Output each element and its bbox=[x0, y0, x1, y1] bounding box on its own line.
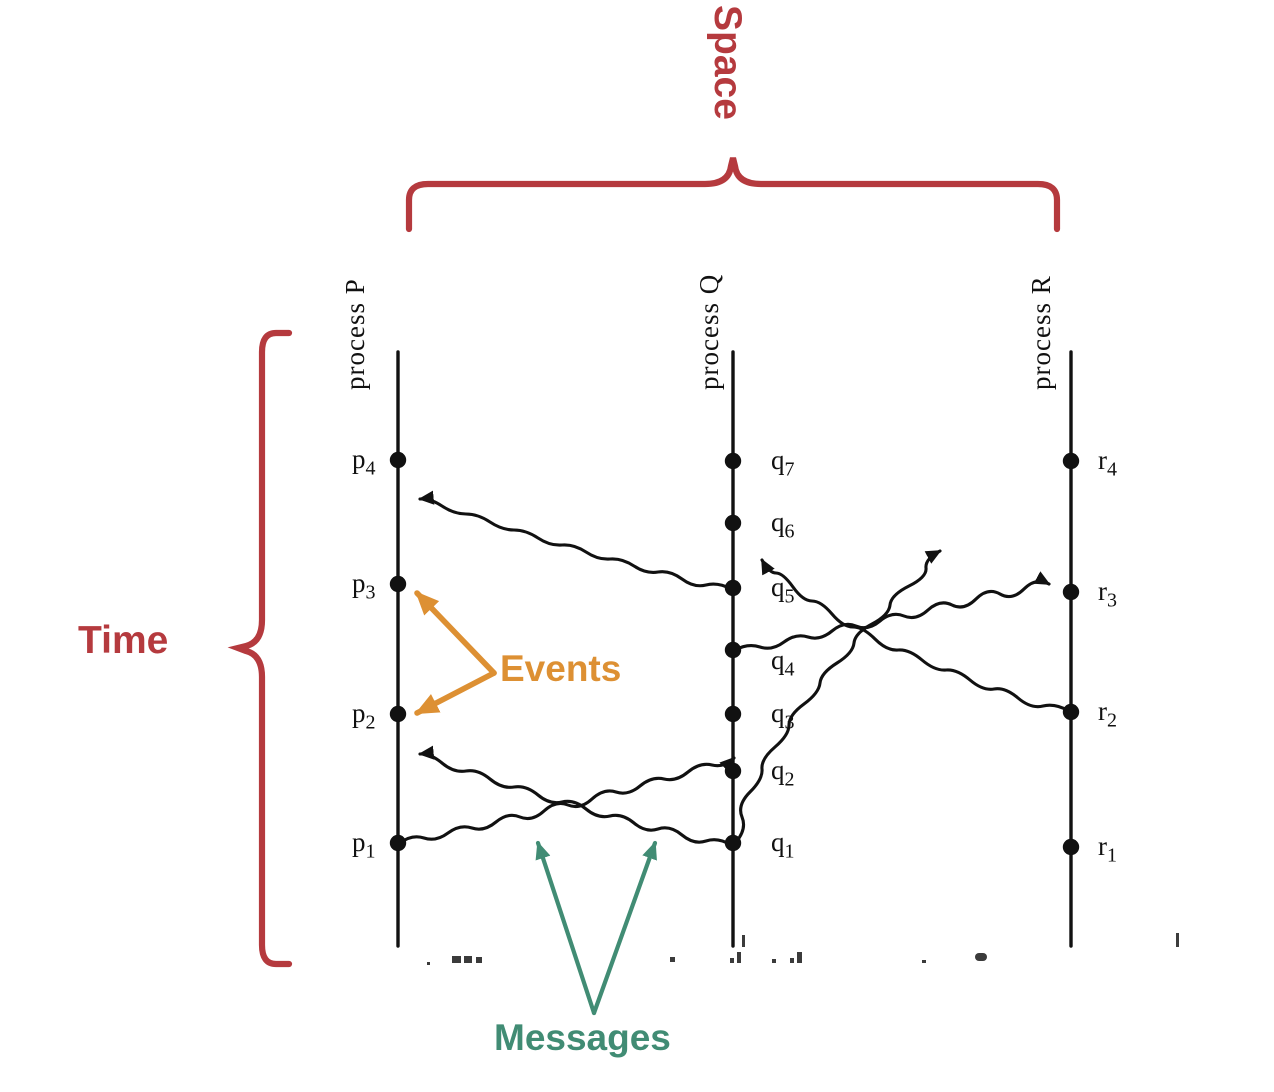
event-label-q7-sub: 7 bbox=[785, 458, 795, 480]
events-arrow-to-p3 bbox=[417, 593, 494, 673]
annotation-label-messages: Messages bbox=[494, 1017, 671, 1059]
messages-arrow-left bbox=[538, 843, 594, 1013]
event-label-q1: q1 bbox=[771, 827, 795, 863]
event-label-r1-base: r bbox=[1098, 831, 1107, 861]
event-label-p4: p4 bbox=[352, 444, 376, 480]
event-label-r4: r4 bbox=[1098, 445, 1117, 481]
event-label-r2-base: r bbox=[1098, 696, 1107, 726]
event-label-r1: r1 bbox=[1098, 831, 1117, 867]
event-label-q7: q7 bbox=[771, 445, 795, 481]
event-label-r2-sub: 2 bbox=[1107, 709, 1117, 731]
event-label-q2: q2 bbox=[771, 755, 795, 791]
event-label-p2: p2 bbox=[352, 698, 376, 734]
event-label-q4-sub: 4 bbox=[785, 658, 795, 680]
event-label-q2-sub: 2 bbox=[785, 768, 795, 790]
event-label-q7-base: q bbox=[771, 445, 785, 475]
event-label-p3-base: p bbox=[352, 568, 366, 598]
event-label-q2-base: q bbox=[771, 755, 785, 785]
event-label-r3-base: r bbox=[1098, 576, 1107, 606]
event-label-r3-sub: 3 bbox=[1107, 589, 1117, 611]
messages-arrow-right bbox=[594, 843, 655, 1013]
event-label-r2: r2 bbox=[1098, 696, 1117, 732]
event-label-q6-base: q bbox=[771, 507, 785, 537]
time-brace bbox=[238, 333, 289, 964]
process-title-Q: process Q bbox=[694, 240, 725, 390]
event-label-p1-sub: 1 bbox=[366, 840, 376, 862]
event-label-p3: p3 bbox=[352, 568, 376, 604]
event-label-q5: q5 bbox=[771, 572, 795, 608]
event-label-q5-sub: 5 bbox=[785, 585, 795, 607]
event-label-r4-sub: 4 bbox=[1107, 458, 1117, 480]
messages-arrows bbox=[538, 843, 655, 1013]
process-title-R: process R bbox=[1026, 240, 1057, 390]
events-arrows bbox=[417, 593, 494, 713]
space-brace bbox=[409, 158, 1057, 229]
figure-canvas: process P process Q process R p4 p3 p2 p… bbox=[0, 0, 1274, 1092]
event-label-p1-base: p bbox=[352, 827, 366, 857]
event-label-q3-base: q bbox=[771, 698, 785, 728]
event-label-q1-base: q bbox=[771, 827, 785, 857]
event-label-p2-base: p bbox=[352, 698, 366, 728]
event-label-p4-base: p bbox=[352, 444, 366, 474]
event-label-q3: q3 bbox=[771, 698, 795, 734]
annotation-layer bbox=[0, 0, 1274, 1092]
events-arrow-to-p2 bbox=[417, 673, 494, 713]
event-label-p2-sub: 2 bbox=[366, 711, 376, 733]
event-label-q4: q4 bbox=[771, 645, 795, 681]
event-label-r3: r3 bbox=[1098, 576, 1117, 612]
event-label-q6: q6 bbox=[771, 507, 795, 543]
event-label-q3-sub: 3 bbox=[785, 711, 795, 733]
event-label-r4-base: r bbox=[1098, 445, 1107, 475]
annotation-label-events: Events bbox=[500, 648, 621, 690]
event-label-q4-base: q bbox=[771, 645, 785, 675]
event-label-p1: p1 bbox=[352, 827, 376, 863]
event-label-p4-sub: 4 bbox=[366, 457, 376, 479]
annotation-label-time: Time bbox=[78, 619, 168, 663]
event-label-q1-sub: 1 bbox=[785, 840, 795, 862]
process-title-P: process P bbox=[340, 240, 371, 390]
event-label-p3-sub: 3 bbox=[366, 581, 376, 603]
annotation-label-space: Space bbox=[705, 5, 749, 120]
event-label-r1-sub: 1 bbox=[1107, 844, 1117, 866]
event-label-q5-base: q bbox=[771, 572, 785, 602]
event-label-q6-sub: 6 bbox=[785, 520, 795, 542]
